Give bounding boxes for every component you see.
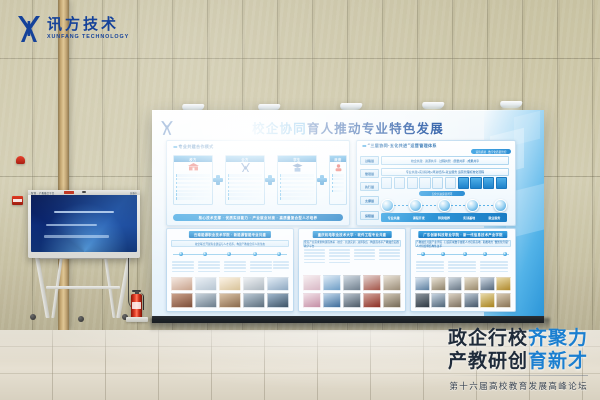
- system-pill-tag: 五化共进运营闭环: [419, 191, 465, 196]
- display-camera-icon: [82, 191, 86, 193]
- card-photo-strip: [171, 277, 289, 291]
- flow-node: [409, 199, 422, 212]
- fire-alarm-bell-icon: [16, 156, 25, 168]
- system-chip-row: [381, 177, 507, 189]
- photo-thumb: [343, 293, 361, 308]
- photo-thumb: [303, 275, 321, 291]
- display-header-status: 直播中: [130, 191, 137, 195]
- bullet-dots-icon: ▪▪: [173, 144, 176, 149]
- card-title: 重庆机电职业技术大学 · 软件工程专业共建: [318, 232, 387, 237]
- bottom-item: 就业服务: [488, 216, 500, 220]
- photo-thumb: [431, 293, 446, 308]
- chip-item-highlighted: [496, 177, 507, 189]
- photo-thumb: [171, 277, 193, 291]
- card-subtitle: 校企联合开展专业建设与人才培养，构建产教融合育人新生态: [195, 242, 265, 246]
- photo-thumb: [464, 277, 479, 291]
- ribbon-text: 核心技术支撑 · 优质实训能力 · 产业就业对接 · 高质量复合型人才培养: [199, 215, 318, 220]
- card-subtitle-bar: 产教融合共建产业学院 · 打造区域数字技能人才培养高地 · 助推地方 “数智化升…: [415, 240, 511, 247]
- photo-thumb: [243, 277, 265, 291]
- system-top-bar: 校企共建 · 资源共享 · 过程共管 · 质量共评 · 成果共享: [381, 156, 509, 165]
- photo-thumb: [496, 293, 511, 308]
- photo-thumb: [243, 293, 265, 308]
- overlay-subtitle: 第十六届高校教育发展高峰论坛: [448, 380, 588, 392]
- card-subtitle-bar: 聚焦产业需求重构课程体系 · 校企 · 共建实训 · 双师队伍 · 构建高水平产…: [303, 240, 401, 247]
- photo-thumb: [480, 293, 495, 308]
- card-photo-strip: [171, 293, 289, 308]
- overlay-line2-highlight: 育新才: [528, 350, 588, 372]
- column-header: 校方: [189, 157, 196, 162]
- overlay-line-2: 产教研创育新才: [448, 350, 588, 372]
- logo-english-text: XUNFANG TECHNOLOGY: [47, 35, 129, 40]
- chip-item-highlighted: [470, 177, 481, 189]
- student-icon: [278, 162, 316, 173]
- card-header: 重庆机电职业技术大学 · 软件工程专业共建: [313, 231, 392, 238]
- wall-light-fixture: [499, 101, 522, 108]
- stand-caster: [78, 316, 84, 322]
- plus-connector-icon: [317, 175, 327, 185]
- chip-item: [394, 177, 405, 189]
- xunfang-logo: 讯方技术 XUNFANG TECHNOLOGY: [16, 14, 129, 44]
- case-card: 广东创新科技职业学院 · 新一代信息技术产业学院 产教融合共建产业学院 · 打造…: [410, 228, 516, 312]
- column-header: 政府: [334, 157, 341, 162]
- board-title: 校企协同育人推动专业特色发展: [152, 118, 544, 137]
- flow-connector: [479, 205, 494, 206]
- card-subtitle: 产教融合共建产业学院 · 打造区域数字技能人才培养高地 · 助推地方 “数智化升…: [416, 240, 510, 248]
- xunfang-x-logo-icon: [16, 14, 42, 44]
- card-photo-strip: [303, 293, 401, 308]
- flow-connector: [451, 205, 466, 206]
- photo-thumb: [267, 277, 289, 291]
- model-column: 企方: [225, 155, 265, 205]
- board-title-main: 育人推动专业特色发展: [307, 121, 444, 136]
- display-header-label: 智慧 · 产教融合平台: [31, 191, 54, 195]
- chip-item: [381, 177, 392, 189]
- flow-node: [494, 199, 507, 212]
- row-label: 管理层: [365, 172, 374, 176]
- fire-hose-box-icon: [12, 196, 23, 205]
- photo-thumb: [496, 277, 511, 291]
- case-card: 云南能源职业技术学院 · 新能源智能专业共建 校企联合开展专业建设与人才培养，构…: [166, 228, 294, 312]
- photo-thumb: [323, 275, 341, 291]
- left-panel-ribbon: 核心技术支撑 · 优质实训能力 · 产业就业对接 · 高质量复合型人才培养: [173, 214, 343, 221]
- chip-item: [432, 177, 443, 189]
- card-photo-strip: [303, 275, 401, 291]
- interactive-display-screen[interactable]: 智慧 · 产教融合平台 直播中: [28, 190, 140, 258]
- overlay-line-1: 政企行校齐聚力: [448, 327, 588, 349]
- company-icon: [226, 162, 264, 173]
- photo-thumb: [415, 293, 430, 308]
- photo-thumb: [383, 293, 401, 308]
- card-title: 广东创新科技职业学院 · 新一代信息技术产业学院: [423, 232, 502, 237]
- photo-thumb: [267, 293, 289, 308]
- second-bar-text: 专业共建+实训基地+师资培养+就业服务 运营管理标准化流程: [406, 170, 484, 174]
- photo-thumb: [219, 277, 241, 291]
- flow-node: [381, 199, 394, 212]
- plus-connector-icon: [213, 175, 223, 185]
- overlay-divider: [448, 375, 588, 376]
- card-title: 云南能源职业技术学院 · 新能源智能专业共建: [194, 232, 266, 237]
- photo-thumb: [363, 293, 381, 308]
- fire-extinguisher: [131, 288, 142, 318]
- right-panel-operation-system: ▪▪“三层协同·五化共进”运营管理体系 运营机制 · 数字化质量管控 战略层 管…: [356, 140, 516, 226]
- bottom-item: 实训基地: [463, 216, 475, 220]
- photo-thumb: [195, 277, 217, 291]
- card-header: 云南能源职业技术学院 · 新能源智能专业共建: [189, 231, 271, 238]
- bottom-item: 师资培养: [438, 216, 450, 220]
- plus-connector-icon: [265, 175, 275, 185]
- photo-thumb: [448, 277, 463, 291]
- bottom-item: 课程开发: [413, 216, 425, 220]
- fire-extinguisher-base: [126, 317, 148, 322]
- photo-thumb: [480, 277, 495, 291]
- school-icon: [174, 162, 212, 173]
- display-record-indicator: [64, 191, 74, 194]
- wall-light-fixture: [421, 102, 444, 109]
- row-label: 保障层: [365, 214, 374, 218]
- bottom-item: 专业共建: [388, 216, 400, 220]
- flow-connector: [394, 205, 409, 206]
- case-card: 重庆机电职业技术大学 · 软件工程专业共建 聚焦产业需求重构课程体系 · 校企 …: [298, 228, 406, 312]
- chip-item-highlighted: [458, 177, 469, 189]
- bullet-dots-icon: ▪▪: [362, 143, 365, 148]
- photo-thumb: [448, 293, 463, 308]
- overlay-title-block: 政企行校齐聚力 产教研创育新才 第十六届高校教育发展高峰论坛: [448, 327, 588, 392]
- photo-thumb: [464, 293, 479, 308]
- wooden-pillar: [58, 0, 69, 330]
- system-second-bar: 专业共建+实训基地+师资培养+就业服务 运营管理标准化流程: [381, 168, 509, 176]
- system-bottom-bar: 专业共建 课程开发 师资培养 实训基地 就业服务: [381, 213, 507, 222]
- card-header: 广东创新科技职业学院 · 新一代信息技术产业学院: [418, 231, 507, 238]
- card-photo-strip: [415, 293, 511, 308]
- photo-thumb: [431, 277, 446, 291]
- government-icon: [330, 162, 346, 173]
- right-panel-heading: “三层协同·五化共进”运营管理体系: [367, 143, 436, 148]
- stand-caster: [30, 314, 36, 320]
- overlay-line1-highlight: 齐聚力: [528, 327, 588, 349]
- photo-thumb: [195, 293, 217, 308]
- right-panel-corner-tag: 运营机制 · 数字化质量管控: [471, 149, 511, 154]
- card-photo-strip: [415, 277, 511, 291]
- photo-thumb: [303, 293, 321, 308]
- card-timeline: [173, 249, 287, 259]
- model-column: 学生: [277, 155, 317, 205]
- photo-thumb: [415, 277, 430, 291]
- photo-thumb: [383, 275, 401, 291]
- left-panel-heading: 专业共建合作模式: [178, 144, 213, 149]
- model-column: 政府: [329, 155, 347, 205]
- left-panel-cooperation-model: ▪▪专业共建合作模式 校方 企方 学生: [166, 140, 350, 226]
- display-screen-content: [31, 193, 137, 252]
- column-header: 企方: [241, 157, 248, 162]
- corner-tag-text: 运营机制 · 数字化质量管控: [476, 150, 507, 154]
- chip-item: [407, 177, 418, 189]
- board-title-accent: 校企协同: [252, 121, 307, 136]
- wall-light-fixture: [339, 103, 362, 110]
- photo-thumb: [171, 293, 193, 308]
- stand-crossbar: [46, 286, 120, 289]
- card-subtitle-bar: 校企联合开展专业建设与人才培养，构建产教融合育人新生态: [171, 240, 289, 247]
- top-bar-text: 校企共建 · 资源共享 · 过程共管 · 质量共评 · 成果共享: [411, 159, 479, 163]
- logo-chinese-text: 讯方技术: [47, 17, 129, 32]
- photo-thumb: [343, 275, 361, 291]
- row-label: 执行层: [365, 185, 374, 189]
- flow-connector: [422, 205, 437, 206]
- exhibition-board: 校企协同育人推动专业特色发展 ▪▪专业共建合作模式 校方 企方: [152, 110, 544, 318]
- system-node-flow: [381, 197, 507, 213]
- flow-node: [438, 199, 451, 212]
- column-header: 学生: [293, 157, 300, 162]
- chip-item: [419, 177, 430, 189]
- pill-tag-text: 五化共进运营闭环: [432, 192, 453, 196]
- chip-item: [445, 177, 456, 189]
- photo-scene: 讯方技术 XUNFANG TECHNOLOGY 校企协同育人推动专业特色发展: [0, 0, 600, 400]
- chip-item-highlighted: [483, 177, 494, 189]
- row-label: 支撑层: [365, 199, 374, 203]
- flow-node: [466, 199, 479, 212]
- card-timeline: [417, 249, 509, 259]
- row-label: 战略层: [365, 159, 374, 163]
- photo-thumb: [219, 293, 241, 308]
- model-column: 校方: [173, 155, 213, 205]
- overlay-line1-plain: 政企行校: [448, 327, 528, 349]
- photo-thumb: [323, 293, 341, 308]
- overlay-line2-plain: 产教研创: [448, 350, 528, 372]
- photo-thumb: [363, 275, 381, 291]
- card-subtitle: 聚焦产业需求重构课程体系 · 校企 · 共建实训 · 双师队伍 · 构建高水平产…: [304, 240, 400, 248]
